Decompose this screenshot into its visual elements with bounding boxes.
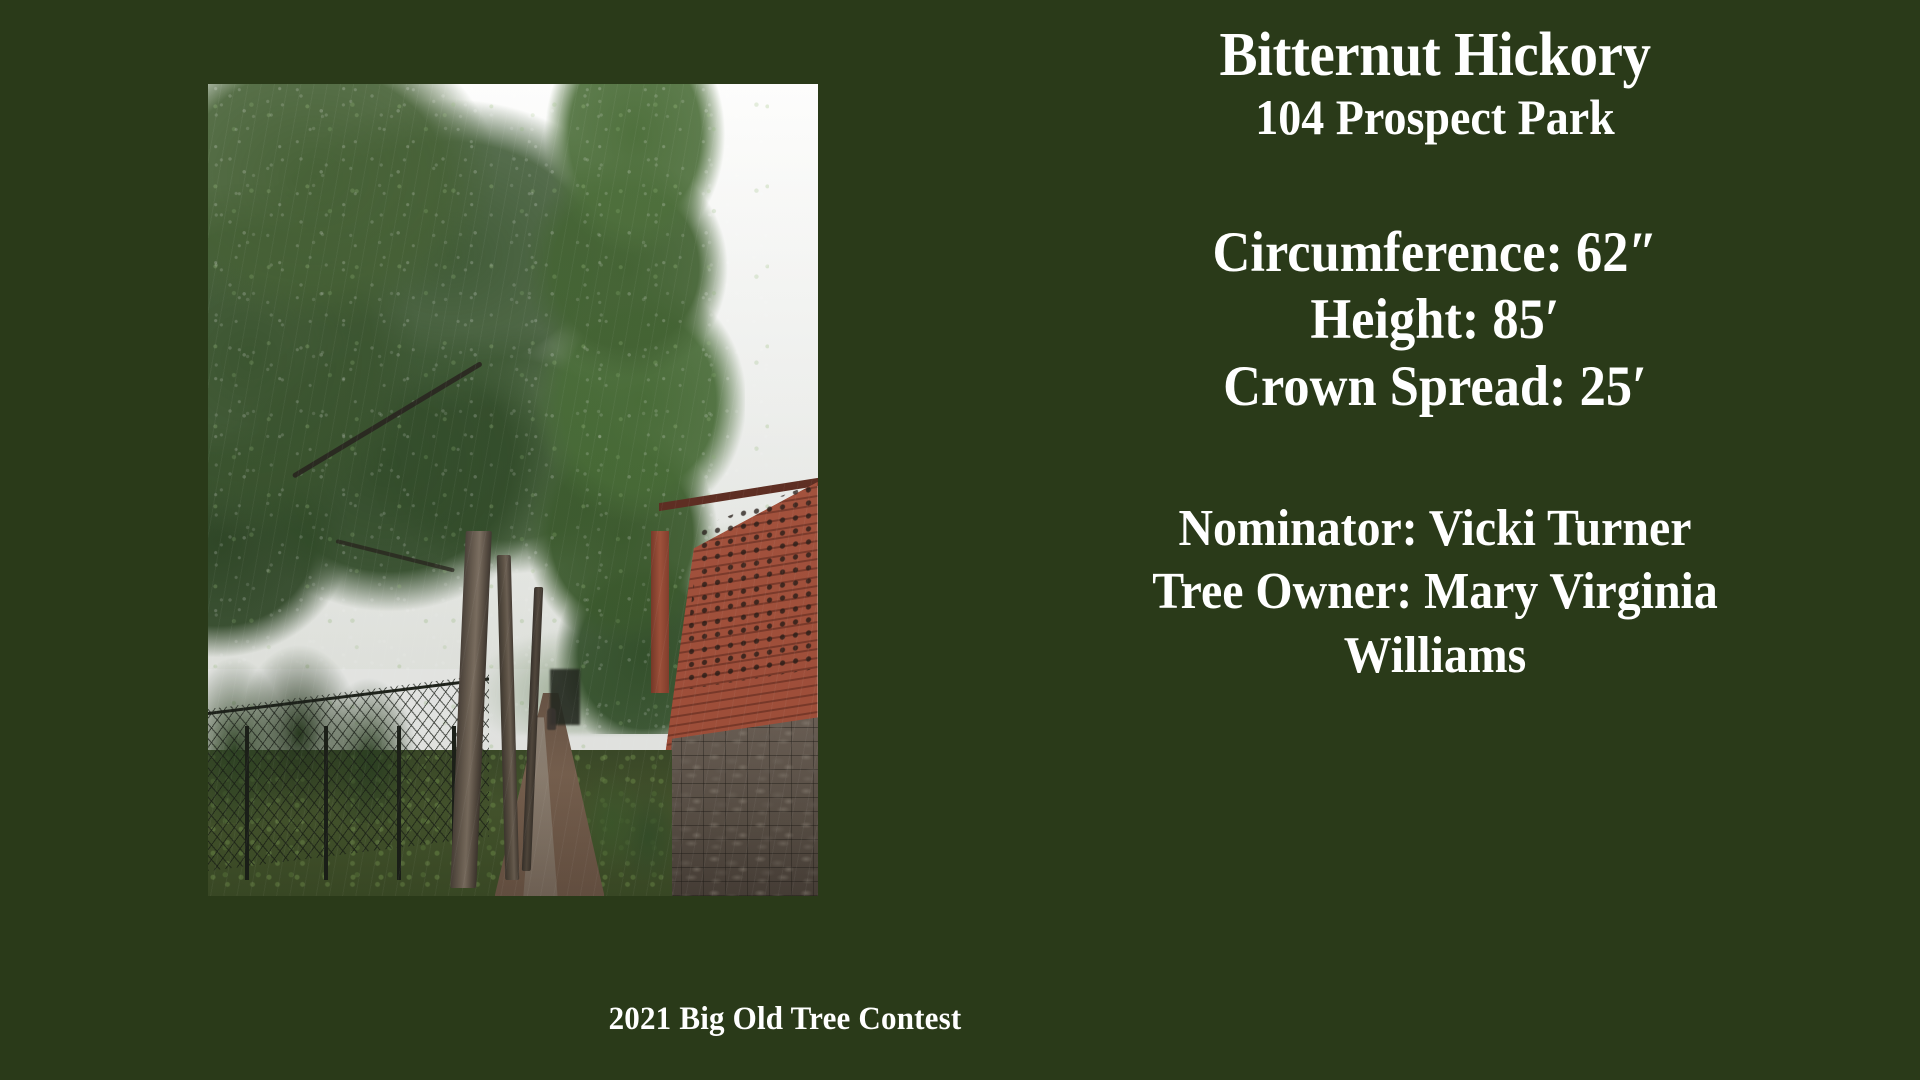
tree-photo — [208, 84, 818, 896]
tree-name: Bitternut Hickory — [970, 22, 1899, 89]
tree-photo-scene — [208, 84, 818, 896]
tree-info-panel: Bitternut Hickory 104 Prospect Park Circ… — [930, 0, 1920, 960]
rain-streaks — [208, 84, 818, 896]
measurements-group: Circumference: 62″ Height: 85′ Crown Spr… — [930, 219, 1920, 421]
measurement-height: Height: 85′ — [970, 286, 1899, 353]
tree-address: 104 Prospect Park — [970, 89, 1899, 145]
people-group: Nominator: Vicki Turner Tree Owner: Mary… — [930, 497, 1920, 687]
nominator: Nominator: Vicki Turner — [970, 497, 1899, 560]
tree-owner: Tree Owner: Mary Virginia Williams — [1131, 560, 1738, 687]
measurement-circumference: Circumference: 62″ — [970, 219, 1899, 286]
tree-contest-slide: Bitternut Hickory 104 Prospect Park Circ… — [0, 0, 1920, 1080]
contest-footer: 2021 Big Old Tree Contest — [47, 1001, 1523, 1038]
measurement-crown-spread: Crown Spread: 25′ — [970, 353, 1899, 420]
